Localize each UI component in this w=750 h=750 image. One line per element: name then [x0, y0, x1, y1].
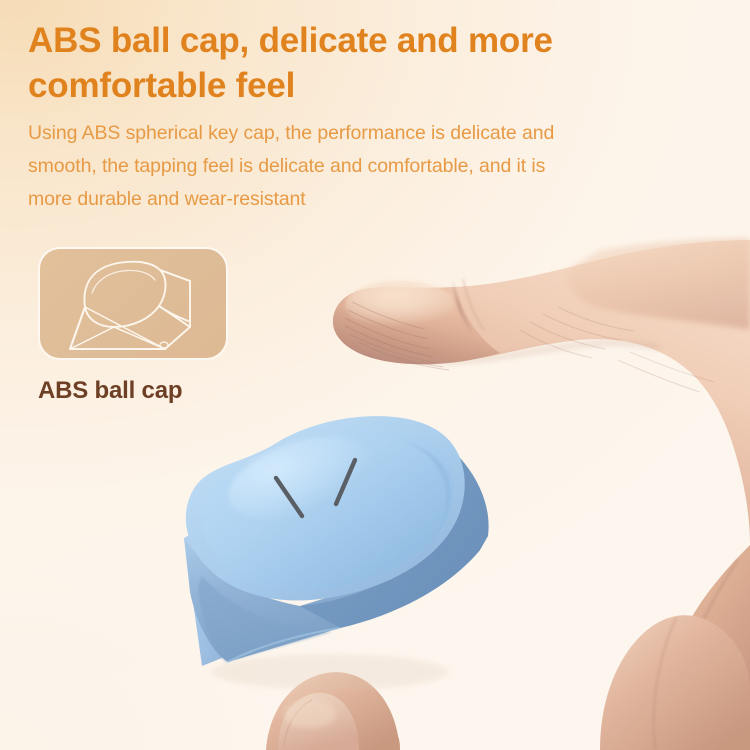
- marketing-copy-block: ABS ball cap, delicate and more comforta…: [28, 18, 708, 216]
- middle-finger-shape: [600, 615, 750, 750]
- keycap-ground-shadow: [212, 654, 448, 690]
- middle-finger-mound: [600, 615, 750, 750]
- blue-keycap-render: [150, 400, 530, 710]
- feature-card-group: ABS ball cap: [38, 247, 228, 405]
- page-subcopy: Using ABS spherical key cap, the perform…: [28, 117, 688, 215]
- abs-ball-keycap-wireframe-icon: [40, 249, 228, 360]
- product-feature-banner: ABS ball cap ABS ball cap, delicate and …: [0, 0, 750, 750]
- feature-card-label: ABS ball cap: [38, 377, 228, 405]
- abs-ball-cap-card: [38, 247, 228, 360]
- blue-keycap-product: [150, 400, 530, 715]
- page-headline: ABS ball cap, delicate and more comforta…: [28, 18, 708, 108]
